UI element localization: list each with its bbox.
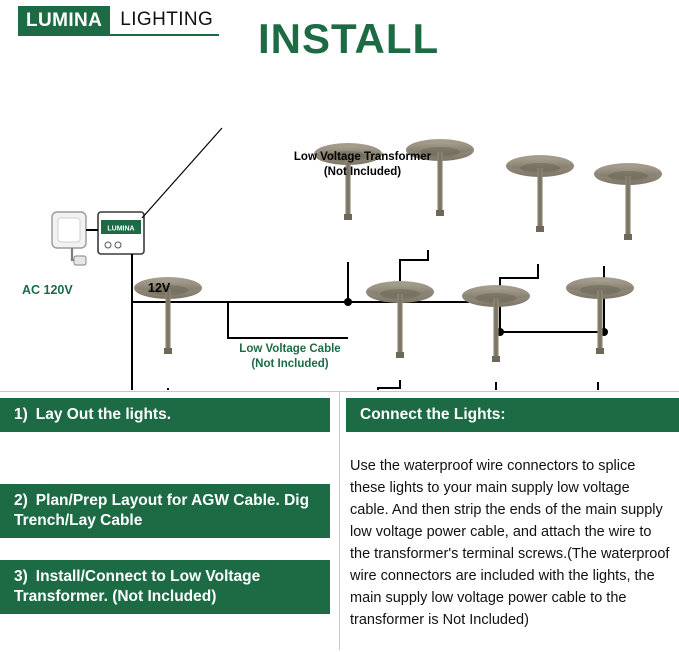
ac-voltage-label: AC 120V: [22, 283, 73, 297]
step-text-1: Lay Out the lights.: [36, 406, 171, 423]
ac-outlet-icon: [52, 212, 86, 265]
connect-body-text: Use the waterproof wire connectors to sp…: [350, 455, 670, 631]
light-fixture: [506, 155, 574, 232]
transformer-caption-line2: (Not Included): [255, 165, 470, 180]
step-item-2: 2)Plan/Prep Layout for AGW Cable. Dig Tr…: [0, 484, 330, 538]
cable-caption: Low Voltage Cable (Not Included): [190, 342, 390, 372]
light-fixture: [594, 163, 662, 240]
step-number-2: 2): [14, 491, 28, 510]
cable-caption-line1: Low Voltage Cable: [190, 342, 390, 357]
step-text-3: Install/Connect to Low Voltage Transform…: [14, 568, 260, 604]
steps-list: 1)Lay Out the lights. 2)Plan/Prep Layout…: [0, 398, 330, 614]
step-item-3: 3)Install/Connect to Low Voltage Transfo…: [0, 560, 330, 614]
step-text-2: Plan/Prep Layout for AGW Cable. Dig Tren…: [14, 492, 309, 528]
light-fixture: [462, 285, 530, 362]
light-fixture: [566, 277, 634, 354]
install-instructions-page: LUMINA LIGHTING INSTALL: [0, 0, 679, 652]
brand-logo: LUMINA LIGHTING: [18, 6, 219, 36]
wiring-diagram: LUMINA: [0, 70, 679, 390]
brand-sub-lighting: LIGHTING: [110, 6, 219, 36]
transformer-caption-line1: Low Voltage Transformer: [255, 150, 470, 165]
step-number-3: 3): [14, 567, 28, 586]
brand-mark-lumina: LUMINA: [18, 6, 110, 36]
connect-heading: Connect the Lights:: [346, 398, 679, 432]
cable-caption-line2: (Not Included): [190, 357, 390, 372]
page-title: INSTALL: [258, 18, 439, 60]
step-number-1: 1): [14, 405, 28, 424]
step-item-1: 1)Lay Out the lights.: [0, 398, 330, 432]
transformer-caption: Low Voltage Transformer (Not Included): [255, 150, 470, 180]
transformer-icon: LUMINA: [98, 212, 144, 254]
transformer-leader-line: [142, 128, 222, 218]
low-voltage-label: 12V: [148, 281, 170, 295]
svg-text:LUMINA: LUMINA: [107, 226, 134, 233]
vertical-divider: [339, 392, 340, 650]
